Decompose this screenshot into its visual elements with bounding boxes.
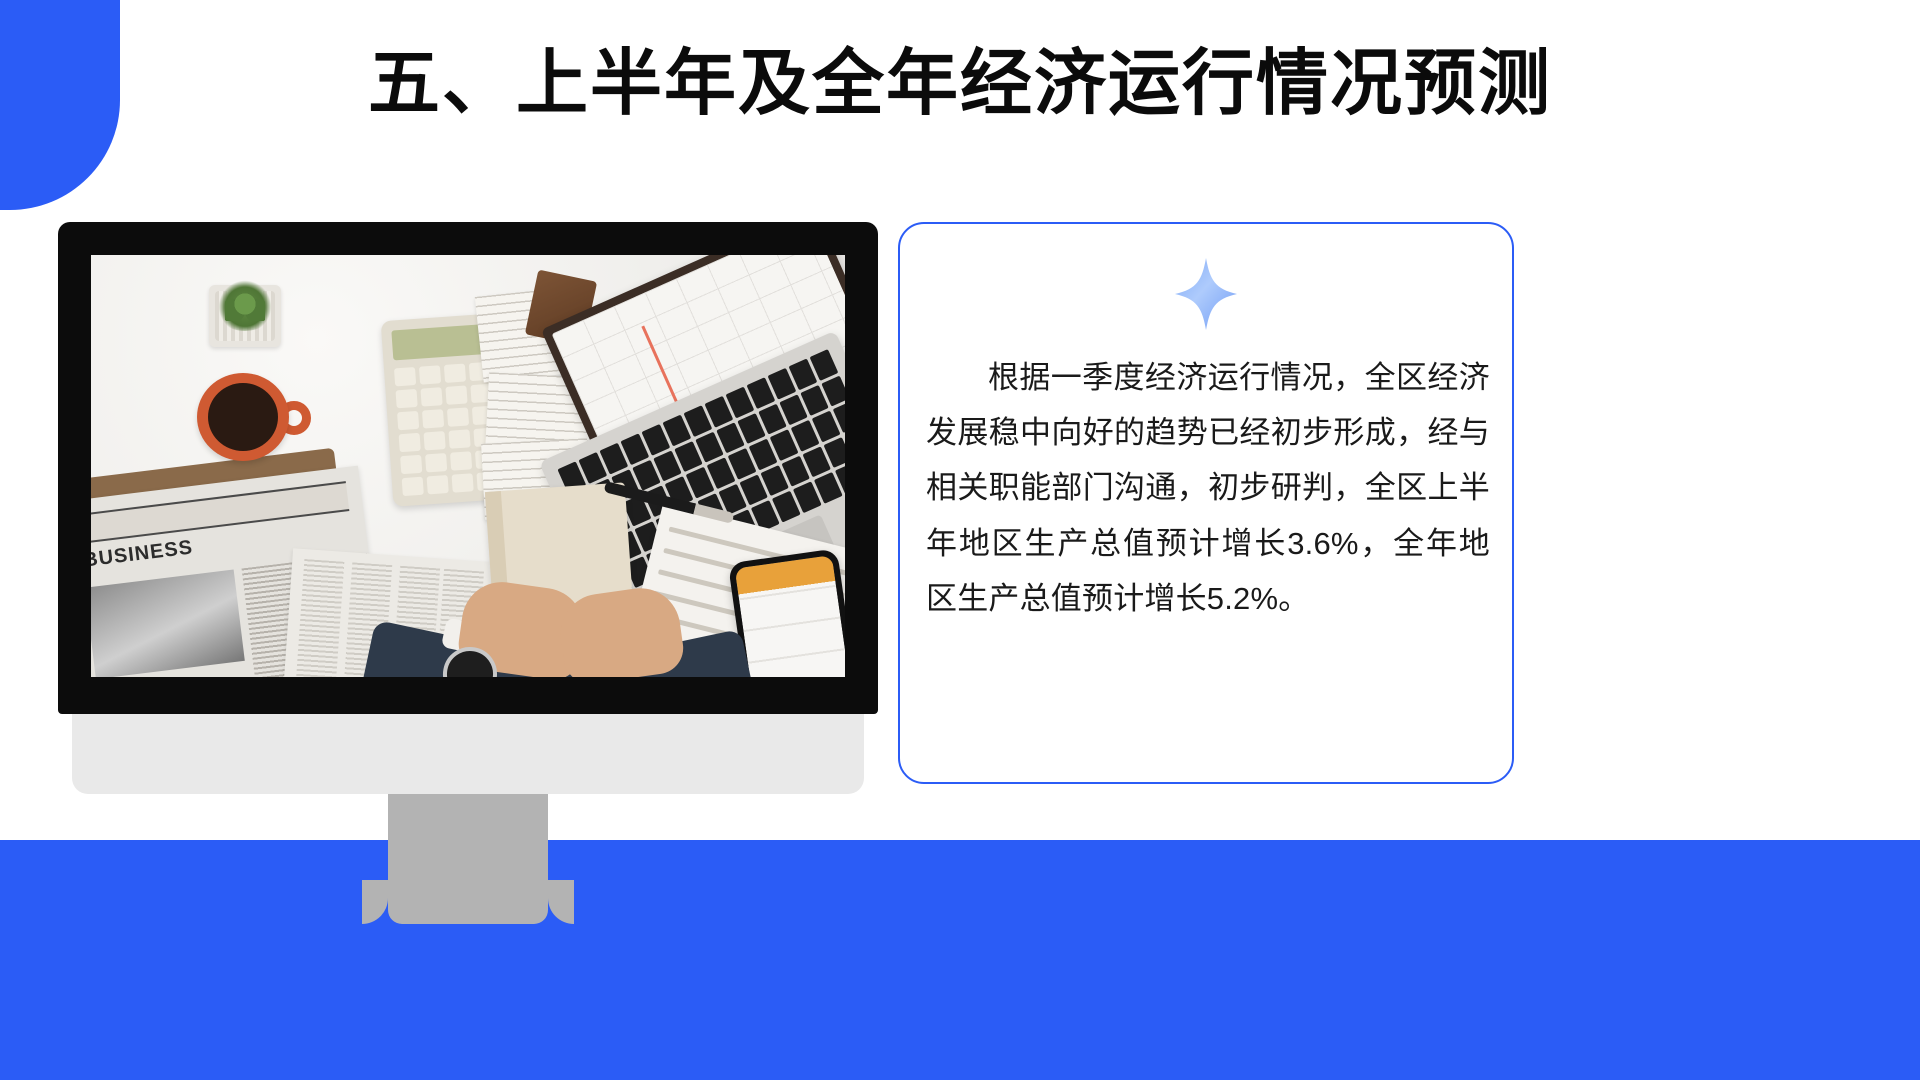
four-point-sparkle-icon [1175, 258, 1237, 335]
page-title: 五、上半年及全年经济运行情况预测 [0, 24, 1920, 129]
monitor-bezel: BUSINESS [58, 222, 878, 714]
coffee-mug [197, 373, 289, 461]
phone-screen [735, 555, 845, 677]
monitor-chin [72, 714, 864, 794]
newspaper-photo [91, 569, 245, 677]
succulent-plant-icon [213, 277, 277, 331]
desk-photo: BUSINESS [91, 255, 845, 677]
monitor-stand [388, 794, 548, 924]
slide-root: 五、上半年及全年经济运行情况预测 BUSINESS [0, 0, 1920, 1080]
decor-bottom-band [0, 840, 1920, 1080]
monitor-screen: BUSINESS [91, 255, 845, 677]
monitor-mockup: BUSINESS [58, 222, 878, 862]
calculator-display [391, 324, 489, 361]
content-card: 根据一季度经济运行情况，全区经济发展稳中向好的趋势已经初步形成，经与相关职能部门… [898, 222, 1514, 784]
card-body-text: 根据一季度经济运行情况，全区经济发展稳中向好的趋势已经初步形成，经与相关职能部门… [926, 350, 1490, 626]
newspaper-masthead: BUSINESS [91, 536, 194, 572]
newspaper-column [294, 559, 344, 677]
